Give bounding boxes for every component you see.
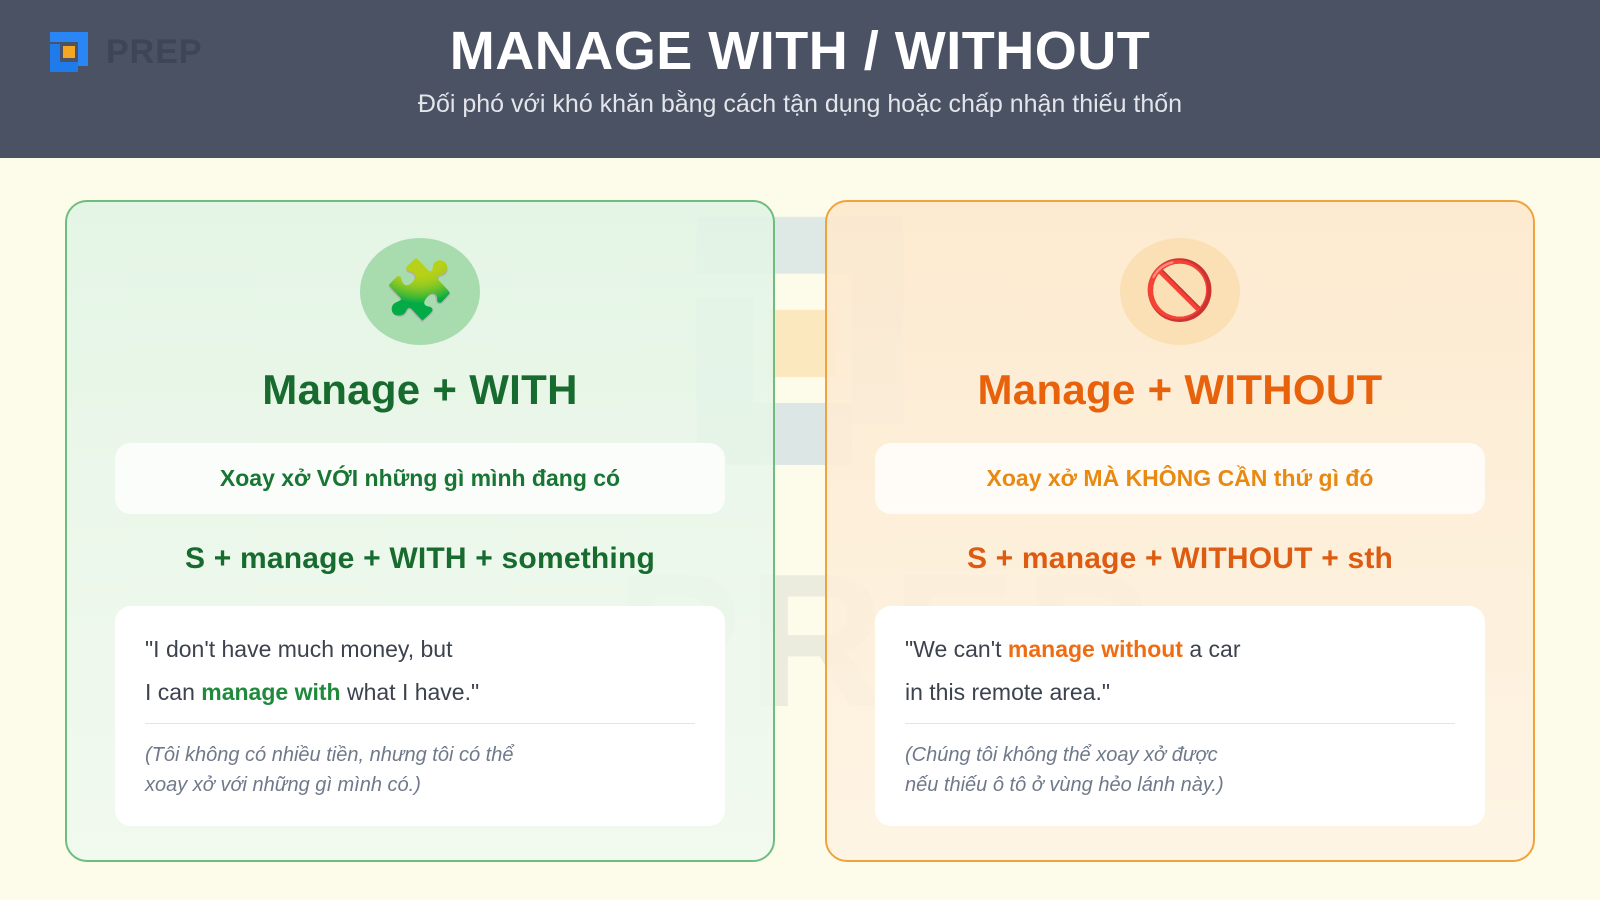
example-highlight: manage without — [1008, 636, 1183, 662]
example-line-2: I can manage with what I have." — [145, 675, 695, 710]
example-line-2-pre: I can — [145, 679, 201, 705]
example-line-2-post: what I have." — [341, 679, 480, 705]
card-manage-with: 🧩 Manage + WITH Xoay xở VỚI những gì mìn… — [65, 200, 775, 862]
example-line-2-text: in this remote area." — [905, 679, 1110, 705]
infographic-page: PREP MANAGE WITH / WITHOUT Đối phó với k… — [0, 0, 1600, 900]
formula-manage-with: S + manage + WITH + something — [185, 542, 655, 576]
page-title: MANAGE WITH / WITHOUT — [0, 0, 1600, 82]
card-manage-without: 🚫 Manage + WITHOUT Xoay xở MÀ KHÔNG CẦN … — [825, 200, 1535, 862]
translation-line-2: nếu thiếu ô tô ở vùng hẻo lánh này.) — [905, 770, 1455, 800]
cards-row: 🧩 Manage + WITH Xoay xở VỚI những gì mìn… — [0, 158, 1600, 900]
header-bar: PREP MANAGE WITH / WITHOUT Đối phó với k… — [0, 0, 1600, 158]
card-title-manage-without: Manage + WITHOUT — [978, 367, 1383, 413]
header-text-block: MANAGE WITH / WITHOUT Đối phó với khó kh… — [0, 0, 1600, 119]
puzzle-piece-icon: 🧩 — [360, 238, 480, 345]
translation-line-1: (Tôi không có nhiều tiền, nhưng tôi có t… — [145, 740, 695, 770]
example-box-manage-with: "I don't have much money, but I can mana… — [115, 606, 725, 826]
card-title-manage-with: Manage + WITH — [262, 367, 577, 413]
page-subtitle: Đối phó với khó khăn bằng cách tận dụng … — [0, 82, 1600, 119]
translation-line-1: (Chúng tôi không thể xoay xở được — [905, 740, 1455, 770]
meaning-box-manage-with: Xoay xở VỚI những gì mình đang có — [115, 443, 725, 514]
example-line-1-post: a car — [1183, 636, 1241, 662]
example-box-manage-without: "We can't manage without a car in this r… — [875, 606, 1485, 826]
example-divider — [145, 723, 695, 724]
prohibited-icon: 🚫 — [1120, 238, 1240, 345]
example-line-2: in this remote area." — [905, 675, 1455, 710]
example-line-1: "We can't manage without a car — [905, 632, 1455, 667]
example-line-1-pre: "We can't — [905, 636, 1008, 662]
formula-manage-without: S + manage + WITHOUT + sth — [967, 542, 1393, 576]
translation-line-2: xoay xở với những gì mình có.) — [145, 770, 695, 800]
example-line-1: "I don't have much money, but — [145, 632, 695, 667]
example-line-1-text: "I don't have much money, but — [145, 636, 452, 662]
meaning-box-manage-without: Xoay xở MÀ KHÔNG CẦN thứ gì đó — [875, 443, 1485, 514]
example-highlight: manage with — [201, 679, 340, 705]
example-divider — [905, 723, 1455, 724]
